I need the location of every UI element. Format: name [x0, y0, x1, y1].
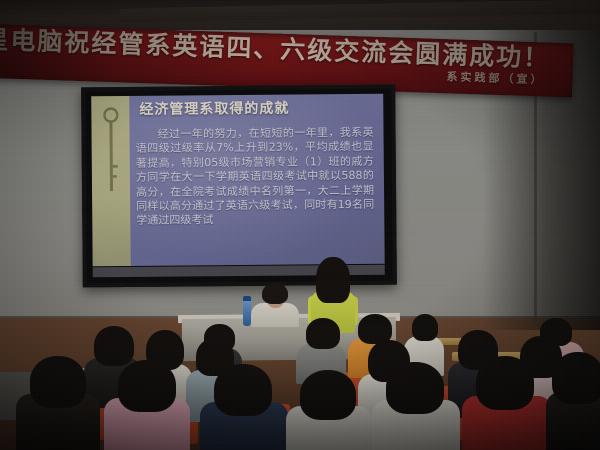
water-bottle-cap [243, 296, 251, 301]
lecture-hall-photo: 星电脑祝经管系英语四、六级交流会圆满成功！ 系实践部（宣） 经济管理系取得的成就… [0, 0, 600, 450]
banner-sub-text: 系实践部（宣） [446, 70, 544, 86]
standing-speaker-hair [316, 257, 350, 303]
seated-speaker-hair [262, 283, 288, 304]
projection-screen: 经济管理系取得的成就 经过一年的努力，在短短的一年里，我系英语四级过级率从7%上… [81, 85, 397, 288]
slide-body-text: 经过一年的努力，在短短的一年里，我系英语四级过级率从7%上升到23%，平均成绩也… [135, 126, 374, 229]
water-bottle [243, 300, 251, 326]
presentation-slide: 经济管理系取得的成就 经过一年的努力，在短短的一年里，我系英语四级过级率从7%上… [91, 94, 384, 267]
slide-title: 经济管理系取得的成就 [139, 100, 289, 119]
key-icon [103, 105, 119, 197]
